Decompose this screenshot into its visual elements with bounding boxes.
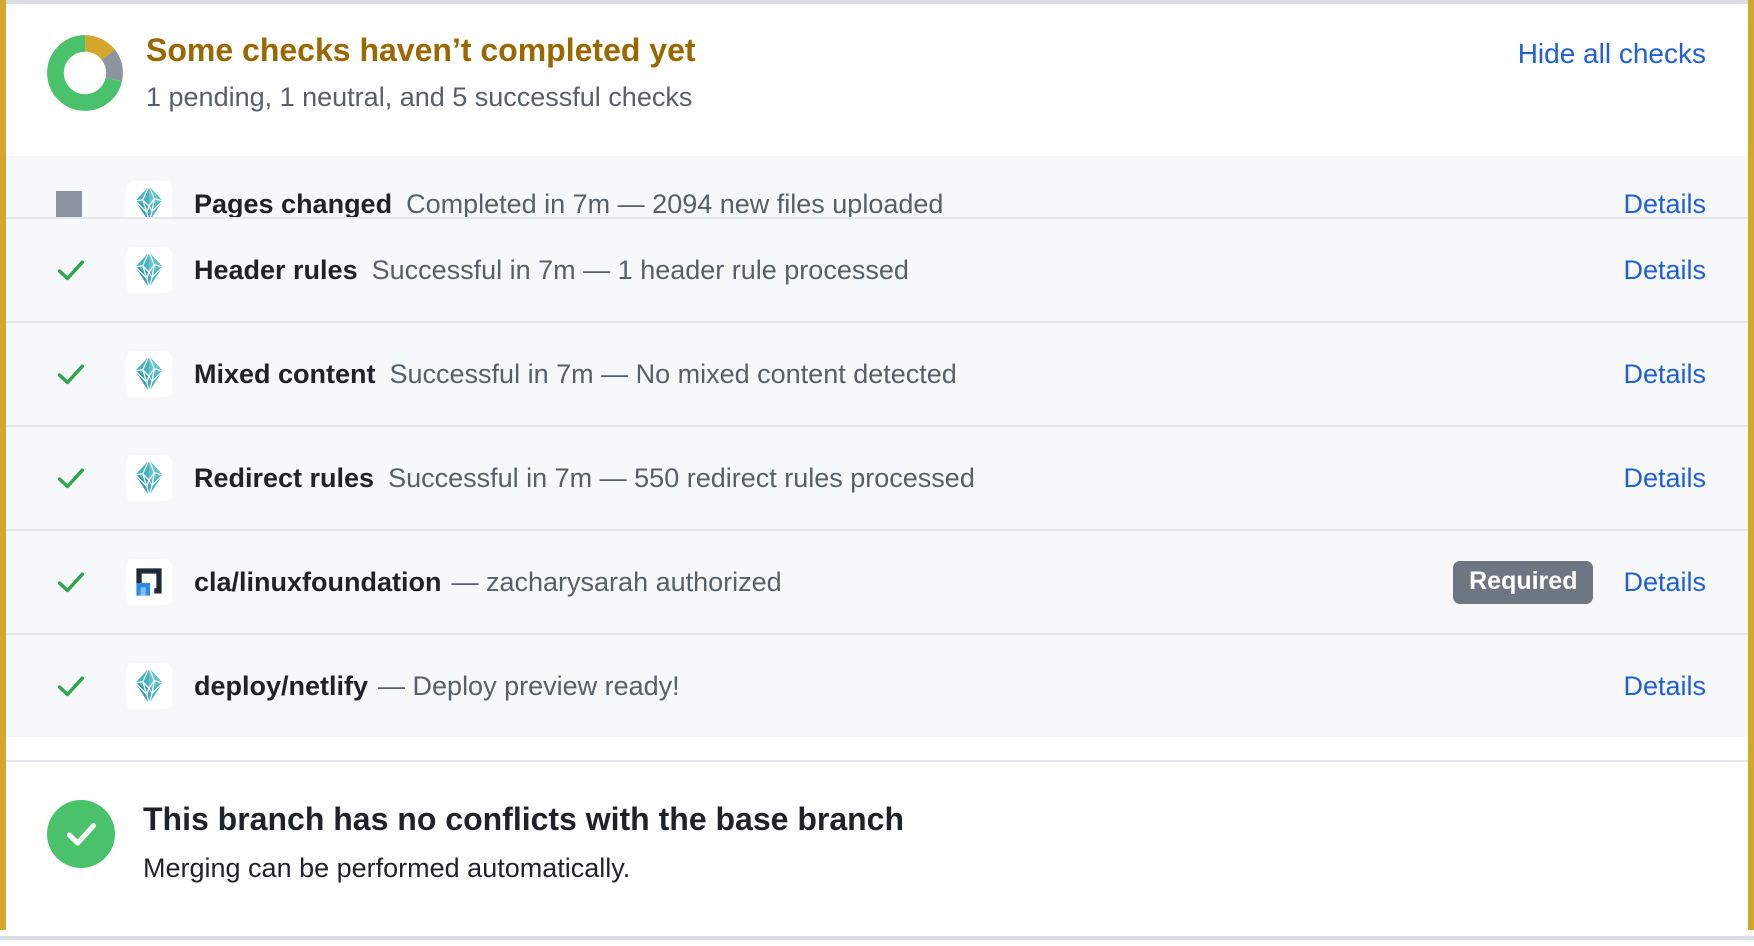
check-description: Successful in 7m — 550 redirect rules pr… xyxy=(388,463,975,494)
check-icon xyxy=(54,565,88,599)
check-row[interactable]: Header rulesSuccessful in 7m — 1 header … xyxy=(6,217,1748,321)
merge-text-group: This branch has no conflicts with the ba… xyxy=(143,800,904,885)
check-name: deploy/netlify xyxy=(194,671,368,702)
check-description: Successful in 7m — No mixed content dete… xyxy=(390,359,957,390)
checks-summary-header: Some checks haven’t completed yet 1 pend… xyxy=(6,4,1748,156)
check-name: Redirect rules xyxy=(194,463,374,494)
check-icon xyxy=(54,253,88,287)
check-row-inner: Header rulesSuccessful in 7m — 1 header … xyxy=(54,247,1748,293)
check-icon xyxy=(54,461,88,495)
check-name: Mixed content xyxy=(194,359,376,390)
check-row[interactable]: Pages changedCompleted in 7m — 2094 new … xyxy=(6,155,1748,217)
page-tail xyxy=(0,940,1754,946)
gray-square-icon xyxy=(54,191,104,217)
required-badge: Required xyxy=(1453,561,1593,604)
checks-summary-title: Some checks haven’t completed yet xyxy=(146,30,696,70)
check-row-inner: cla/linuxfoundation— zacharysarah author… xyxy=(54,559,1748,605)
merge-status-subtitle: Merging can be performed automatically. xyxy=(143,852,904,884)
netlify-icon xyxy=(126,351,172,397)
check-icon xyxy=(54,253,104,287)
check-name: Pages changed xyxy=(194,189,392,220)
check-icon xyxy=(54,669,104,703)
check-description: — zacharysarah authorized xyxy=(452,567,782,598)
check-row[interactable]: Mixed contentSuccessful in 7m — No mixed… xyxy=(6,321,1748,425)
check-name: cla/linuxfoundation xyxy=(194,567,442,598)
checks-summary-subtitle: 1 pending, 1 neutral, and 5 successful c… xyxy=(146,80,696,115)
merge-status-box: Pages changedCompleted in 7m — 2094 new … xyxy=(0,0,1754,930)
donut-svg xyxy=(46,34,124,112)
details-link[interactable]: Details xyxy=(1623,189,1706,220)
check-name: Header rules xyxy=(194,255,358,286)
hide-all-checks-link[interactable]: Hide all checks xyxy=(1518,38,1706,70)
checks-donut-chart xyxy=(46,34,124,117)
details-link[interactable]: Details xyxy=(1623,671,1706,702)
details-link[interactable]: Details xyxy=(1623,255,1706,286)
check-icon xyxy=(54,669,88,703)
linux-foundation-cla-icon xyxy=(128,561,170,603)
summary-text-group: Some checks haven’t completed yet 1 pend… xyxy=(146,30,696,115)
pr-checks-panel: Pages changedCompleted in 7m — 2094 new … xyxy=(0,0,1754,946)
details-link[interactable]: Details xyxy=(1623,567,1706,598)
merge-status-title: This branch has no conflicts with the ba… xyxy=(143,800,904,838)
netlify-icon xyxy=(128,665,170,707)
netlify-icon xyxy=(128,457,170,499)
netlify-icon xyxy=(126,247,172,293)
check-row[interactable]: Redirect rulesSuccessful in 7m — 550 red… xyxy=(6,425,1748,529)
check-row[interactable]: deploy/netlify— Deploy preview ready!Det… xyxy=(6,633,1748,737)
check-icon xyxy=(54,357,88,391)
details-link[interactable]: Details xyxy=(1623,463,1706,494)
check-description: — Deploy preview ready! xyxy=(378,671,680,702)
netlify-icon xyxy=(128,353,170,395)
check-glyph xyxy=(61,814,101,854)
details-link[interactable]: Details xyxy=(1623,359,1706,390)
netlify-icon xyxy=(128,249,170,291)
check-row-inner: deploy/netlify— Deploy preview ready!Det… xyxy=(54,663,1748,709)
neutral-status-square xyxy=(56,191,82,217)
check-icon xyxy=(54,357,104,391)
check-row-inner: Redirect rulesSuccessful in 7m — 550 red… xyxy=(54,455,1748,501)
check-icon xyxy=(54,565,104,599)
linux-foundation-cla-icon xyxy=(126,559,172,605)
netlify-icon xyxy=(126,663,172,709)
check-circle-icon xyxy=(47,800,115,868)
check-description: Successful in 7m — 1 header rule process… xyxy=(372,255,909,286)
check-icon xyxy=(54,461,104,495)
check-description: Completed in 7m — 2094 new files uploade… xyxy=(406,189,943,220)
check-row-inner: Mixed contentSuccessful in 7m — No mixed… xyxy=(54,351,1748,397)
netlify-icon xyxy=(126,455,172,501)
checks-list: Pages changedCompleted in 7m — 2094 new … xyxy=(6,155,1748,737)
merge-conflict-status: This branch has no conflicts with the ba… xyxy=(6,760,1748,930)
check-row[interactable]: cla/linuxfoundation— zacharysarah author… xyxy=(6,529,1748,633)
